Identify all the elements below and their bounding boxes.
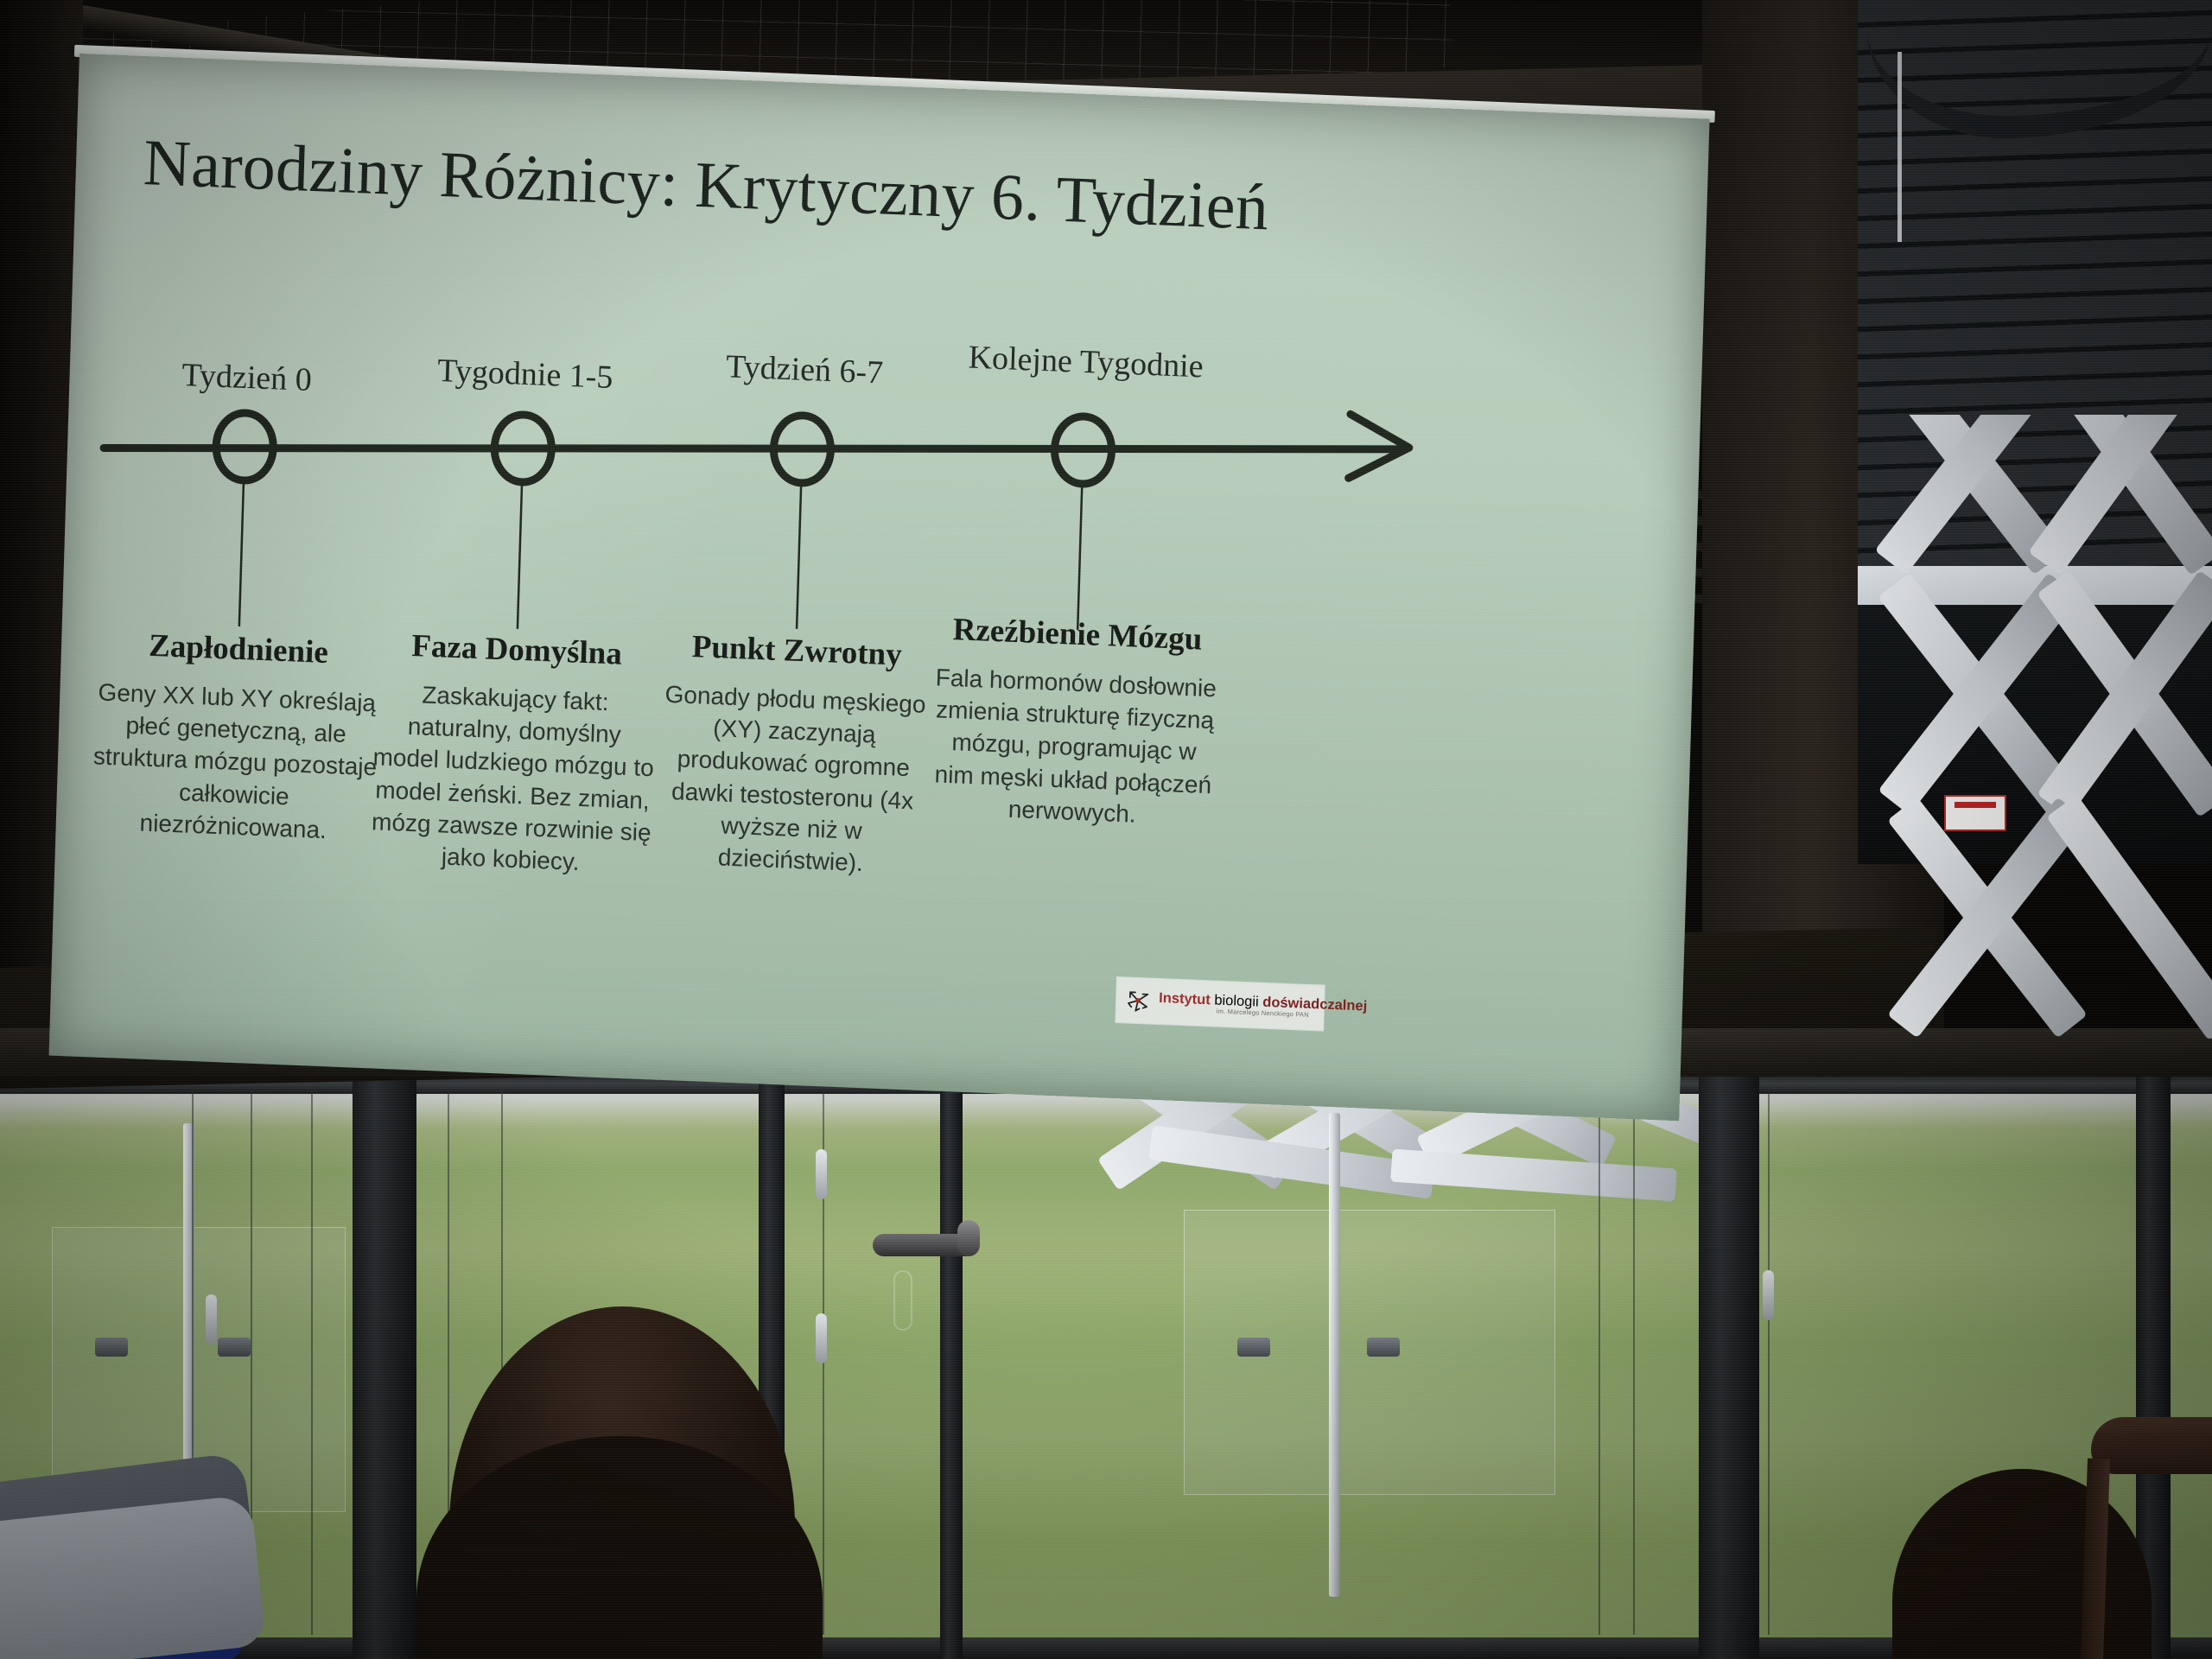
slide-content: Narodziny Różnicy: Krytyczny 6. Tydzień — [49, 54, 1710, 1121]
balustrade-clamp — [1237, 1338, 1270, 1357]
milestone-column-2: Punkt Zwrotny Gonady płodu męskiego (XY)… — [647, 626, 939, 882]
white-truss-structure — [1858, 415, 2212, 1089]
blind-pull-cord[interactable] — [1897, 52, 1902, 242]
window-mullion — [353, 1068, 416, 1659]
door-handle[interactable] — [873, 1234, 976, 1256]
column-body: Gonady płodu męskiego (XY) zaczynają pro… — [647, 677, 938, 882]
institute-logo: Instytut biologii doświadczalnej im. Mar… — [1116, 977, 1324, 1031]
blind-cord — [1633, 1090, 1635, 1635]
chair-leg — [2081, 1459, 2110, 1659]
column-body: Geny XX lub XY określają płeć genetyczną… — [90, 676, 379, 848]
column-body: Zaskakujący fakt: naturalny, domyślny mo… — [367, 677, 658, 881]
milestone-column-3: Rzeźbienie Mózgu Fala hormonów dosłownie… — [929, 610, 1220, 833]
blind-cord — [1599, 1090, 1600, 1635]
timeline-connector — [797, 484, 801, 629]
timeline-connector — [518, 483, 522, 629]
cord-weight — [206, 1294, 217, 1344]
timeline-connector — [1077, 485, 1082, 630]
window-mullion — [940, 1068, 963, 1659]
column-body: Fala hormonów dosłownie zmienia struktur… — [929, 661, 1218, 833]
window-sill — [0, 1637, 2212, 1659]
window-mullion — [1699, 1068, 1759, 1659]
cord-weight — [816, 1313, 827, 1363]
projection-screen: Narodziny Różnicy: Krytyczny 6. Tydzień — [48, 54, 1709, 1129]
balustrade-clamp — [218, 1338, 251, 1357]
blind-cord — [311, 1090, 313, 1635]
cord-weight — [1763, 1270, 1774, 1320]
logo-word-instytut: Instytut — [1159, 990, 1211, 1007]
neuron-star-icon — [1123, 985, 1154, 1015]
door-lock-icon — [893, 1270, 912, 1331]
milestone-column-1: Faza Domyślna Zaskakujący fakt: naturaln… — [367, 626, 659, 881]
chair — [2074, 1417, 2212, 1659]
conference-room-photo: Narodziny Różnicy: Krytyczny 6. Tydzień — [0, 0, 2212, 1659]
balustrade-clamp — [1367, 1338, 1400, 1357]
timeline-axis — [104, 397, 1403, 500]
timeline-graphic — [49, 54, 1710, 1121]
cushion — [0, 1495, 266, 1659]
timeline-connector — [239, 481, 244, 626]
warning-sign — [1944, 795, 2006, 831]
milestone-column-0: Zapłodnienie Geny XX lub XY określają pł… — [90, 625, 381, 848]
balustrade-clamp — [95, 1338, 128, 1357]
balustrade-post — [1329, 1113, 1340, 1597]
blind-cord — [1768, 1090, 1770, 1635]
cord-weight — [816, 1149, 827, 1199]
